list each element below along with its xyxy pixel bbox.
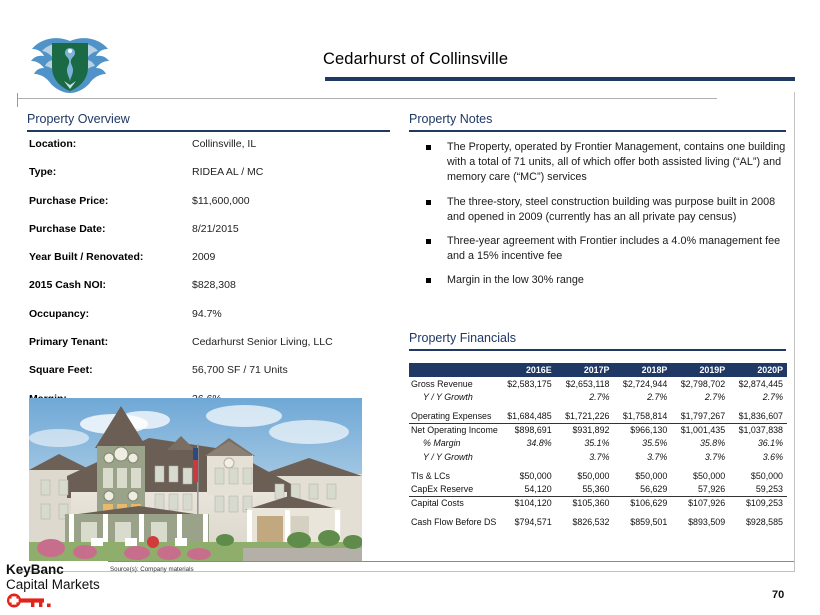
section-underline-property-overview [27,130,390,132]
overview-row-label: Square Feet: [29,364,192,376]
overview-row: Location:Collinsville, IL [29,138,389,166]
overview-row-label: Type: [29,166,192,178]
table-cell: $2,583,175 [498,377,556,390]
brand-name-line1: KeyBanc [6,562,126,577]
right-divider [794,92,795,572]
table-column-header: 2018P [613,363,671,377]
table-cell: 57,926 [671,483,729,496]
table-cell: $2,874,445 [729,377,787,390]
company-eagle-logo-icon [26,33,114,95]
overview-row-value: Collinsville, IL [192,138,256,150]
overview-row: Type:RIDEA AL / MC [29,166,389,194]
table-corner-cell [409,363,498,377]
table-row: Y / Y Growth2.7%2.7%2.7%2.7% [409,390,787,403]
keybanc-brand-logo: KeyBanc Capital Markets [6,562,126,613]
table-row: % Margin34.8%35.1%35.5%35.8%36.1% [409,437,787,450]
table-cell: $931,892 [556,423,614,436]
table-cell: $898,691 [498,423,556,436]
table-cell: $109,253 [729,496,787,509]
property-note-text: Margin in the low 30% range [447,274,584,286]
table-cell: $1,684,485 [498,410,556,423]
overview-row: Purchase Price:$11,600,000 [29,195,389,223]
table-row-label: Capital Costs [409,496,498,509]
table-cell: $859,501 [613,516,671,529]
property-note-item: The three-story, steel construction buil… [414,195,792,225]
table-cell: $104,120 [498,496,556,509]
property-note-text: The three-story, steel construction buil… [447,196,775,223]
table-column-header: 2019P [671,363,729,377]
property-note-item: Margin in the low 30% range [414,273,792,288]
table-row-label: CapEx Reserve [409,483,498,496]
table-cell: $2,724,944 [613,377,671,390]
table-cell: $1,836,607 [729,410,787,423]
table-row-label: Y / Y Growth [409,390,498,403]
table-cell: 2.7% [671,390,729,403]
table-cell: 59,253 [729,483,787,496]
overview-row-value: $828,308 [192,279,236,291]
table-row-label: Net Operating Income [409,423,498,436]
table-cell: $966,130 [613,423,671,436]
table-body: Gross Revenue$2,583,175$2,653,118$2,724,… [409,377,787,529]
table-column-header: 2020P [729,363,787,377]
table-cell: 35.5% [613,437,671,450]
property-notes-list: The Property, operated by Frontier Manag… [414,140,792,298]
table-column-header: 2017P [556,363,614,377]
table-cell: $826,532 [556,516,614,529]
table-cell [498,390,556,403]
overview-row: 2015 Cash NOI:$828,308 [29,279,389,307]
table-row-label: % Margin [409,437,498,450]
table-cell: $106,629 [613,496,671,509]
property-note-item: Three-year agreement with Frontier inclu… [414,234,792,264]
property-note-text: The Property, operated by Frontier Manag… [447,141,785,183]
table-cell: $1,037,838 [729,423,787,436]
table-row: Y / Y Growth3.7%3.7%3.7%3.6% [409,450,787,463]
section-title-property-notes: Property Notes [409,112,492,129]
page-number: 70 [772,589,784,601]
table-row-label: Gross Revenue [409,377,498,390]
overview-row-value: 56,700 SF / 71 Units [192,364,288,376]
left-divider-tick [17,93,18,107]
table-cell: 3.7% [671,450,729,463]
table-cell: $1,721,226 [556,410,614,423]
bullet-square-icon [426,145,431,150]
property-note-text: Three-year agreement with Frontier inclu… [447,235,780,262]
bullet-square-icon [426,200,431,205]
brand-name-line2: Capital Markets [6,577,126,592]
table-cell: $1,001,435 [671,423,729,436]
table-row-label: TIs & LCs [409,469,498,482]
property-financials-table: 2016E2017P2018P2019P2020P Gross Revenue$… [409,363,787,529]
property-note-item: The Property, operated by Frontier Manag… [414,140,792,186]
table-cell: $893,509 [671,516,729,529]
table-cell: $2,653,118 [556,377,614,390]
bullet-square-icon [426,239,431,244]
table-cell: 3.6% [729,450,787,463]
table-cell: $50,000 [613,469,671,482]
table-cell: 3.7% [556,450,614,463]
section-title-property-overview: Property Overview [27,112,130,129]
section-underline-property-financials [409,349,786,351]
table-cell: $2,798,702 [671,377,729,390]
table-cell: $105,360 [556,496,614,509]
table-cell: 2.7% [613,390,671,403]
source-divider [108,561,794,562]
overview-row: Square Feet:56,700 SF / 71 Units [29,364,389,392]
overview-row: Primary Tenant:Cedarhurst Senior Living,… [29,336,389,364]
table-cell: 2.7% [556,390,614,403]
overview-row-value: 2009 [192,251,215,263]
table-cell: 55,360 [556,483,614,496]
table-cell: $50,000 [729,469,787,482]
red-key-icon [6,593,126,613]
table-row-label: Y / Y Growth [409,450,498,463]
table-cell: 54,120 [498,483,556,496]
table-cell: $50,000 [556,469,614,482]
overview-row-label: Location: [29,138,192,150]
page-title: Cedarhurst of Collinsville [323,50,508,69]
table-cell: 35.1% [556,437,614,450]
overview-row-value: RIDEA AL / MC [192,166,263,178]
section-title-property-financials: Property Financials [409,331,516,348]
overview-row-label: Occupancy: [29,308,192,320]
bullet-square-icon [426,278,431,283]
overview-row: Occupancy:94.7% [29,308,389,336]
table-cell: $928,585 [729,516,787,529]
table-header-row: 2016E2017P2018P2019P2020P [409,363,787,377]
table-cell: $1,758,814 [613,410,671,423]
overview-row-label: Year Built / Renovated: [29,251,192,263]
table-cell: 35.8% [671,437,729,450]
table-cell: 36.1% [729,437,787,450]
table-cell: 3.7% [613,450,671,463]
table-row: Operating Expenses$1,684,485$1,721,226$1… [409,410,787,423]
overview-row-value: $11,600,000 [192,195,250,207]
table-row: Cash Flow Before DS$794,571$826,532$859,… [409,516,787,529]
table-cell: 2.7% [729,390,787,403]
overview-row-value: 94.7% [192,308,222,320]
table-row: Capital Costs$104,120$105,360$106,629$10… [409,496,787,509]
table-cell: $107,926 [671,496,729,509]
overview-row-value: 8/21/2015 [192,223,239,235]
overview-row-label: Purchase Date: [29,223,192,235]
overview-row-label: Purchase Price: [29,195,192,207]
overview-row-label: 2015 Cash NOI: [29,279,192,291]
table-header: 2016E2017P2018P2019P2020P [409,363,787,377]
table-row-label: Operating Expenses [409,410,498,423]
table-cell [498,450,556,463]
table-cell: 56,629 [613,483,671,496]
table-row: TIs & LCs$50,000$50,000$50,000$50,000$50… [409,469,787,482]
table-cell: $794,571 [498,516,556,529]
table-cell: $1,797,267 [671,410,729,423]
overview-row-label: Primary Tenant: [29,336,192,348]
table-cell: 34.8% [498,437,556,450]
title-underline-bar [325,77,795,81]
overview-row-value: Cedarhurst Senior Living, LLC [192,336,333,348]
table-cell: $50,000 [498,469,556,482]
slide-canvas: Cedarhurst of Collinsville Property Over… [0,0,820,615]
table-row-label: Cash Flow Before DS [409,516,498,529]
table-cell: $50,000 [671,469,729,482]
table-column-header: 2016E [498,363,556,377]
section-underline-property-notes [409,130,786,132]
overview-row: Purchase Date:8/21/2015 [29,223,389,251]
table-row: Net Operating Income$898,691$931,892$966… [409,423,787,436]
building-exterior-photo [29,398,362,561]
table-row: CapEx Reserve54,12055,36056,62957,92659,… [409,483,787,496]
table-row: Gross Revenue$2,583,175$2,653,118$2,724,… [409,377,787,390]
header-divider [17,98,717,99]
overview-row: Year Built / Renovated:2009 [29,251,389,279]
